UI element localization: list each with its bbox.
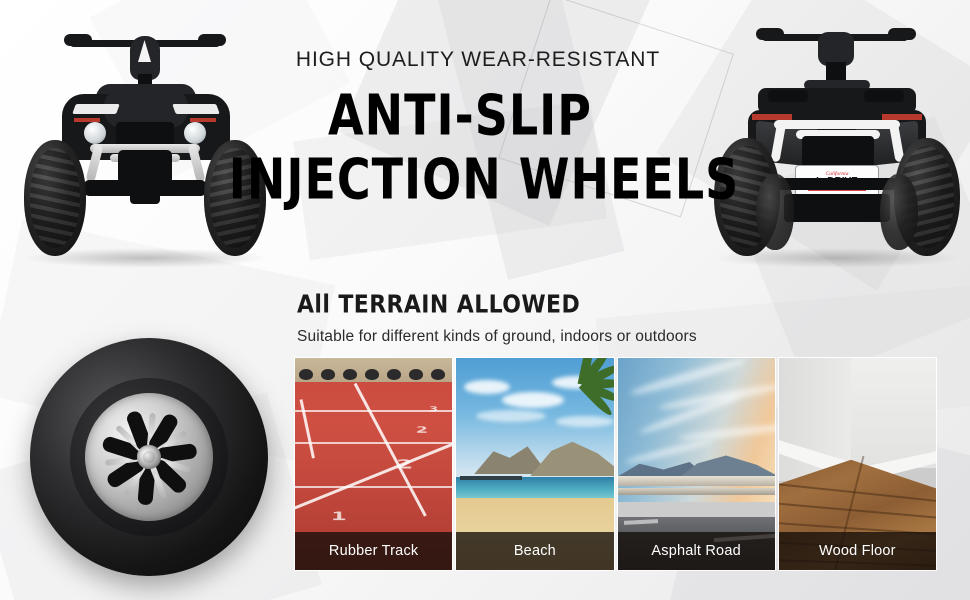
tile-caption: Rubber Track (295, 532, 452, 570)
track-side-object (299, 369, 313, 380)
terrain-section-subtitle: Suitable for different kinds of ground, … (297, 328, 697, 346)
product-marketing-poster: California I ♥ DRIVE HIGH QUALITY WEAR-R… (0, 0, 970, 600)
terrain-tile-rubber-track[interactable]: 3 2 2 1 Rubber Track (295, 358, 452, 570)
track-side-object (387, 369, 401, 380)
terrain-tile-grid: 3 2 2 1 Rubber Track (295, 358, 936, 570)
track-side-object (431, 369, 445, 380)
track-side-object (321, 369, 335, 380)
headline-line-1-label: ANTI-SLIP (328, 82, 592, 148)
track-side-object (343, 369, 357, 380)
track-side-object (365, 369, 379, 380)
terrain-section-title: All TERRAIN ALLOWED (297, 291, 580, 319)
track-side-object (409, 369, 423, 380)
tile-caption: Wood Floor (779, 532, 936, 570)
terrain-tile-beach[interactable]: Beach (456, 358, 613, 570)
headline-line-2: INJECTION WHEELS (0, 152, 970, 206)
kicker-label: HIGH QUALITY WEAR-RESISTANT (296, 48, 660, 72)
tile-caption: Asphalt Road (618, 532, 775, 570)
headline-line-2-label: INJECTION WHEELS (229, 146, 740, 212)
tile-caption: Beach (456, 532, 613, 570)
terrain-tile-wood-floor[interactable]: Wood Floor (779, 358, 936, 570)
kicker-text: HIGH QUALITY WEAR-RESISTANT (0, 48, 970, 72)
wheel-closeup-image (16, 324, 281, 589)
terrain-tile-asphalt-road[interactable]: Asphalt Road (618, 358, 775, 570)
headline-line-1: ANTI-SLIP (0, 88, 970, 142)
